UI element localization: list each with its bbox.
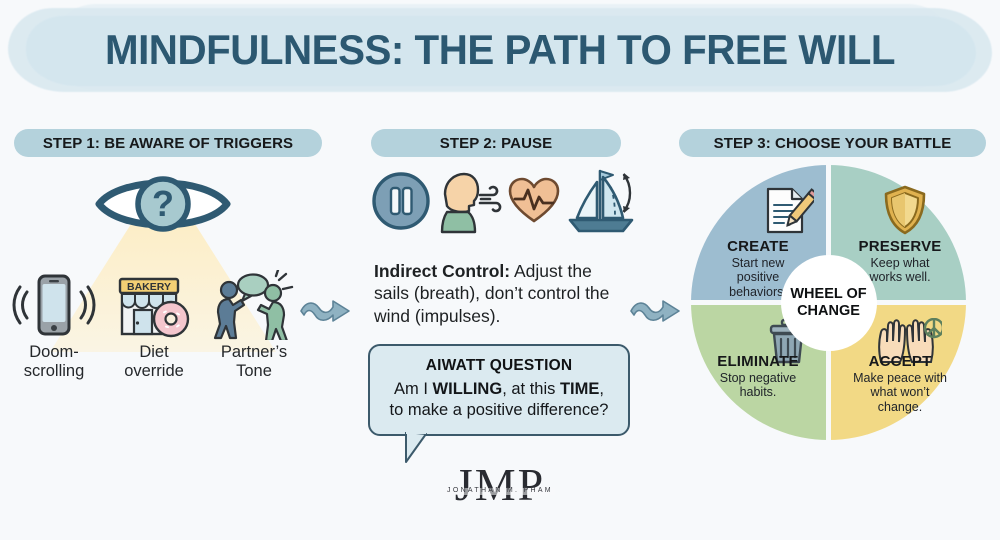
wheel-label-preserve-title: PRESERVE [844, 238, 956, 255]
step-2-content: Indirect Control: Adjust the sails (brea… [360, 162, 650, 472]
indirect-control-statement: Indirect Control: Adjust the sails (brea… [374, 260, 629, 327]
trigger-item-doomscrolling: Doom- scrolling [4, 268, 104, 381]
step-header-2: STEP 2: PAUSE [371, 129, 621, 157]
bubble-line1-time: TIME [560, 380, 599, 398]
desc-line-1: Keep what [870, 256, 929, 270]
bubble-line1-e: , [599, 380, 604, 398]
bubble-title: AIWATT QUESTION [384, 357, 614, 375]
wheel-label-eliminate-title: ELIMINATE [702, 353, 814, 370]
shield-icon [882, 184, 928, 241]
bubble-line1-c: , at this [502, 380, 560, 398]
desc-line-1: Make peace with [853, 371, 947, 385]
bubble-line1-a: Am I [394, 380, 433, 398]
wheel-of-change: WHEEL OF CHANGE [686, 160, 971, 445]
trigger-label-line2: override [124, 362, 184, 380]
wheel-hub: WHEEL OF CHANGE [781, 255, 877, 351]
desc-line-1: Start new [732, 256, 785, 270]
desc-line-2: works well. [869, 270, 930, 284]
svg-text:?: ? [152, 183, 174, 224]
trigger-label-line1: Partner’s [221, 343, 287, 361]
wheel-hub-line2: CHANGE [797, 303, 860, 319]
desc-line-3: behaviors. [729, 285, 787, 299]
desc-line-1: Stop negative [720, 371, 796, 385]
desc-line-2: habits. [740, 385, 777, 399]
step-1-content: ? [0, 160, 330, 400]
brand-logo: JMP JONATHAN M. PHAM [0, 462, 1000, 507]
bakery-storefront-donut-icon: BAKERY [108, 268, 200, 340]
eye-with-question-mark-icon: ? [93, 168, 233, 240]
trigger-label-line1: Doom- [29, 343, 79, 361]
wheel-label-accept-title: ACCEPT [844, 353, 956, 370]
trigger-label-line2: Tone [236, 362, 272, 380]
step-header-3: STEP 3: CHOOSE YOUR BATTLE [679, 129, 986, 157]
wavy-arrow-right-icon-2 [627, 293, 683, 332]
bubble-line2: to make a positive difference? [390, 401, 609, 419]
person-exhaling-breath-icon [435, 168, 503, 239]
wheel-label-eliminate: ELIMINATE Stop negative habits. [702, 353, 814, 400]
wavy-arrow-right-icon-1 [297, 293, 353, 332]
desc-line-2: positive [737, 270, 779, 284]
sailboat-icon [564, 163, 640, 244]
trigger-label-line2: scrolling [24, 362, 85, 380]
vibrating-phone-icon [11, 268, 97, 340]
trigger-list: Doom- scrolling BAKERY [4, 268, 304, 398]
statement-bold-label: Indirect Control: [374, 261, 510, 281]
aiwatt-speech-bubble: AIWATT QUESTION Am I WILLING, at this TI… [368, 344, 630, 436]
step-3-content: WHEEL OF CHANGE [678, 160, 978, 452]
logo-monogram: JMP JONATHAN M. PHAM [455, 462, 545, 507]
bubble-line1-willing: WILLING [433, 380, 503, 398]
desc-line-3: change. [878, 400, 922, 414]
trigger-item-diet-override: BAKERY [104, 268, 204, 381]
document-with-pencil-icon [762, 186, 814, 241]
trigger-label-line1: Diet [139, 343, 168, 361]
speech-bubble-tail [404, 432, 434, 460]
wheel-label-accept-desc: Make peace with what won’t change. [844, 371, 956, 414]
logo-monogram-text: JMP [455, 459, 545, 510]
wheel-hub-line1: WHEEL OF [790, 286, 866, 302]
infographic-canvas: MINDFULNESS: THE PATH TO FREE WILL STEP … [0, 0, 1000, 540]
trigger-label-diet-override: Diet override [124, 343, 184, 381]
pause-button-icon [370, 170, 432, 237]
bakery-sign-text: BAKERY [127, 281, 171, 293]
step-header-1: STEP 1: BE AWARE OF TRIGGERS [14, 129, 322, 157]
title-banner: MINDFULNESS: THE PATH TO FREE WILL [0, 2, 1000, 98]
page-title: MINDFULNESS: THE PATH TO FREE WILL [20, 2, 980, 98]
trigger-item-partners-tone: Partner’s Tone [204, 268, 304, 381]
wheel-label-accept: ACCEPT Make peace with what won’t change… [844, 353, 956, 414]
trigger-label-partners-tone: Partner’s Tone [221, 343, 287, 381]
bubble-body: Am I WILLING, at this TIME, to make a po… [384, 379, 614, 421]
heartbeat-pulse-icon [507, 176, 561, 231]
trigger-label-doomscrolling: Doom- scrolling [24, 343, 85, 381]
step-2-icon-row [370, 162, 640, 244]
two-people-arguing-icon [207, 268, 301, 340]
logo-name-text: JONATHAN M. PHAM [445, 488, 555, 495]
wheel-label-create-title: CREATE [702, 238, 814, 255]
desc-line-2: what won’t [870, 385, 929, 399]
wheel-label-eliminate-desc: Stop negative habits. [702, 371, 814, 400]
